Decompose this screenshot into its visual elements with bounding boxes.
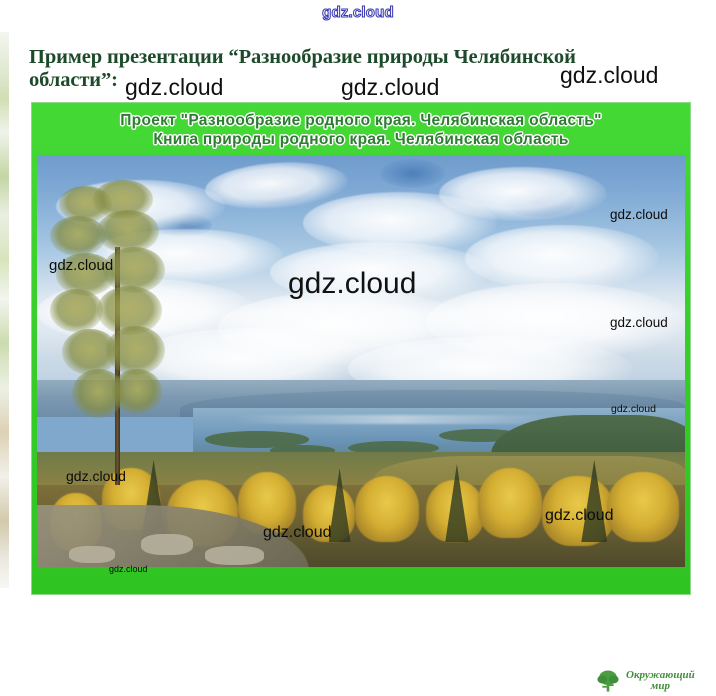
brand-line-2: мир	[626, 681, 695, 692]
watermark-top: gdz.cloud	[0, 4, 716, 21]
adjacent-image-gutter	[9, 32, 13, 588]
slide-heading-line-2: Книга природы родного края. Челябинская …	[32, 130, 690, 149]
watermark-photo-tiny: gdz.cloud	[109, 564, 148, 574]
pine-foliage	[106, 326, 165, 375]
watermark-photo-center: gdz.cloud	[288, 267, 416, 301]
rock	[205, 546, 263, 565]
brand-line-1: Окружающий	[626, 670, 695, 681]
watermark-header-1: gdz.cloud	[125, 74, 223, 101]
watermark-photo-right-mid: gdz.cloud	[610, 315, 668, 330]
brand-logo: Окружающий мир	[592, 666, 701, 696]
pine-foliage	[50, 289, 103, 332]
slide-heading: Проект "Разнообразие родного края. Челяб…	[32, 111, 690, 149]
rock	[141, 534, 193, 555]
tree-icon	[595, 668, 621, 694]
adjacent-image-sliver	[0, 32, 9, 588]
cloud	[465, 225, 659, 291]
cloud	[439, 167, 607, 221]
watermark-photo-lower-mid: gdz.cloud	[263, 524, 332, 542]
birch-crown	[355, 476, 420, 542]
landscape-photo	[37, 155, 685, 567]
birch-crown	[478, 468, 543, 538]
watermark-photo-lower-right: gdz.cloud	[545, 507, 614, 525]
birch-crown	[607, 472, 678, 542]
pine-foliage	[112, 369, 162, 415]
watermark-photo-left: gdz.cloud	[49, 257, 113, 274]
rock	[69, 546, 114, 562]
lake-reflection	[231, 415, 568, 424]
pine-tree	[50, 180, 206, 485]
watermark-photo-lower-left: gdz.cloud	[66, 468, 126, 484]
sky-blue-patch	[380, 159, 445, 188]
slide-heading-line-1: Проект "Разнообразие родного края. Челяб…	[120, 112, 602, 129]
brand-text: Окружающий мир	[626, 670, 695, 692]
watermark-photo-right-low: gdz.cloud	[611, 403, 656, 415]
watermark-header-3: gdz.cloud	[560, 62, 658, 89]
watermark-photo-right-top: gdz.cloud	[610, 207, 668, 222]
watermark-header-2: gdz.cloud	[341, 74, 439, 101]
